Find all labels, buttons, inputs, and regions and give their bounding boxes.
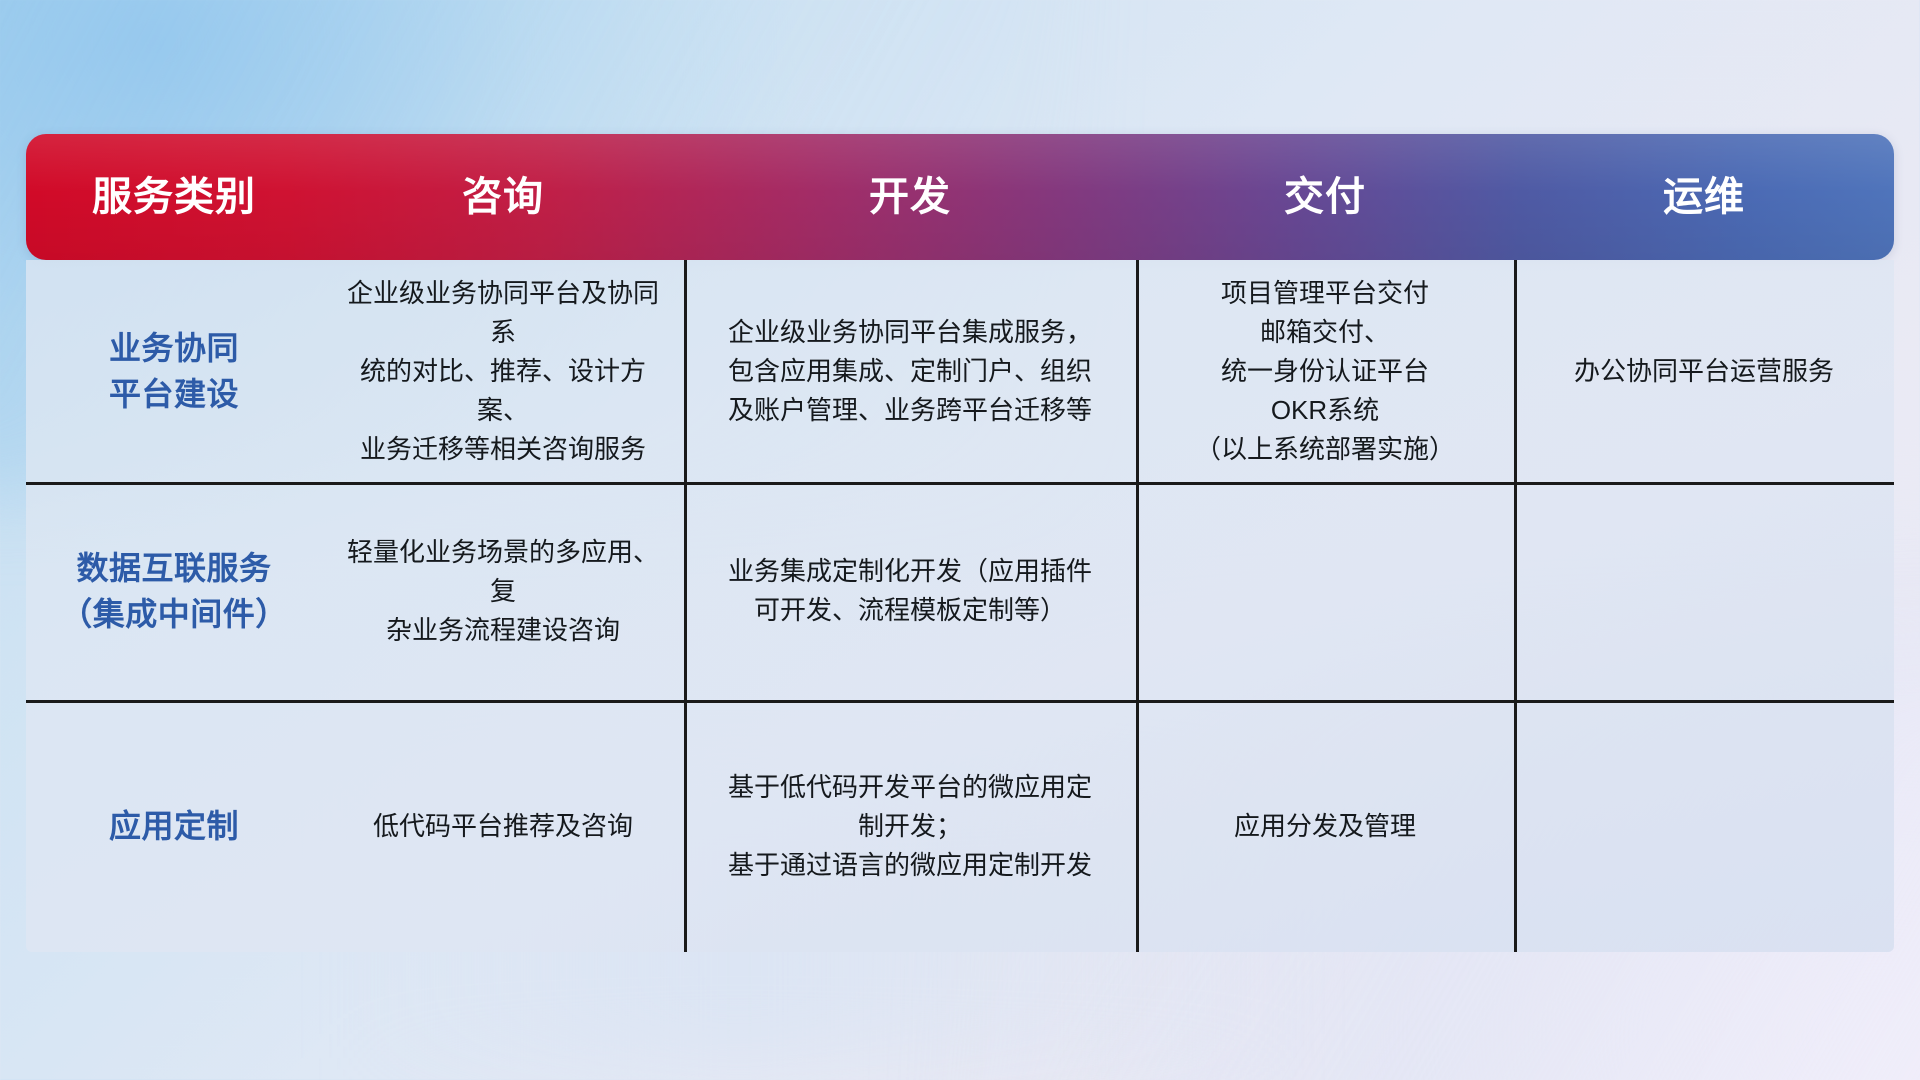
- row-divider: [26, 482, 1894, 485]
- page-root: 服务类别 咨询 开发 交付 运维 业务协同 平台建设 企业级业务协同平台及协同系…: [0, 0, 1920, 1080]
- table-header-row: 服务类别 咨询 开发 交付 运维: [26, 134, 1894, 260]
- column-divider-1: [684, 260, 687, 952]
- column-header-operations: 运维: [1514, 175, 1894, 219]
- cell-development: 基于低代码开发平台的微应用定 制开发； 基于通过语言的微应用定制开发: [684, 700, 1136, 952]
- column-header-development: 开发: [684, 175, 1136, 219]
- cell-consulting: 企业级业务协同平台及协同系 统的对比、推荐、设计方案、 业务迁移等相关咨询服务: [322, 260, 684, 482]
- table-row: 业务协同 平台建设 企业级业务协同平台及协同系 统的对比、推荐、设计方案、 业务…: [26, 260, 1894, 482]
- row-category-label: 应用定制: [26, 700, 322, 952]
- cell-consulting: 轻量化业务场景的多应用、复 杂业务流程建设咨询: [322, 482, 684, 700]
- cell-consulting: 低代码平台推荐及咨询: [322, 700, 684, 952]
- cell-operations: [1514, 700, 1894, 952]
- column-header-consulting: 咨询: [322, 175, 684, 219]
- cell-delivery: 应用分发及管理: [1136, 700, 1514, 952]
- cell-delivery: [1136, 482, 1514, 700]
- row-divider: [26, 700, 1894, 703]
- cell-development: 业务集成定制化开发（应用插件 可开发、流程模板定制等）: [684, 482, 1136, 700]
- column-header-delivery: 交付: [1136, 175, 1514, 219]
- table-body: 业务协同 平台建设 企业级业务协同平台及协同系 统的对比、推荐、设计方案、 业务…: [26, 260, 1894, 952]
- service-matrix-table: 服务类别 咨询 开发 交付 运维 业务协同 平台建设 企业级业务协同平台及协同系…: [26, 134, 1894, 952]
- table-row: 数据互联服务 （集成中间件） 轻量化业务场景的多应用、复 杂业务流程建设咨询 业…: [26, 482, 1894, 700]
- cell-operations: [1514, 482, 1894, 700]
- cell-delivery: 项目管理平台交付 邮箱交付、 统一身份认证平台 OKR系统 （以上系统部署实施）: [1136, 260, 1514, 482]
- cell-operations: 办公协同平台运营服务: [1514, 260, 1894, 482]
- column-divider-2: [1136, 260, 1139, 952]
- row-category-label: 数据互联服务 （集成中间件）: [26, 482, 322, 700]
- table-row: 应用定制 低代码平台推荐及咨询 基于低代码开发平台的微应用定 制开发； 基于通过…: [26, 700, 1894, 952]
- column-divider-3: [1514, 260, 1517, 952]
- row-category-label: 业务协同 平台建设: [26, 260, 322, 482]
- cell-development: 企业级业务协同平台集成服务， 包含应用集成、定制门户、组织 及账户管理、业务跨平…: [684, 260, 1136, 482]
- column-header-service-category: 服务类别: [26, 175, 322, 219]
